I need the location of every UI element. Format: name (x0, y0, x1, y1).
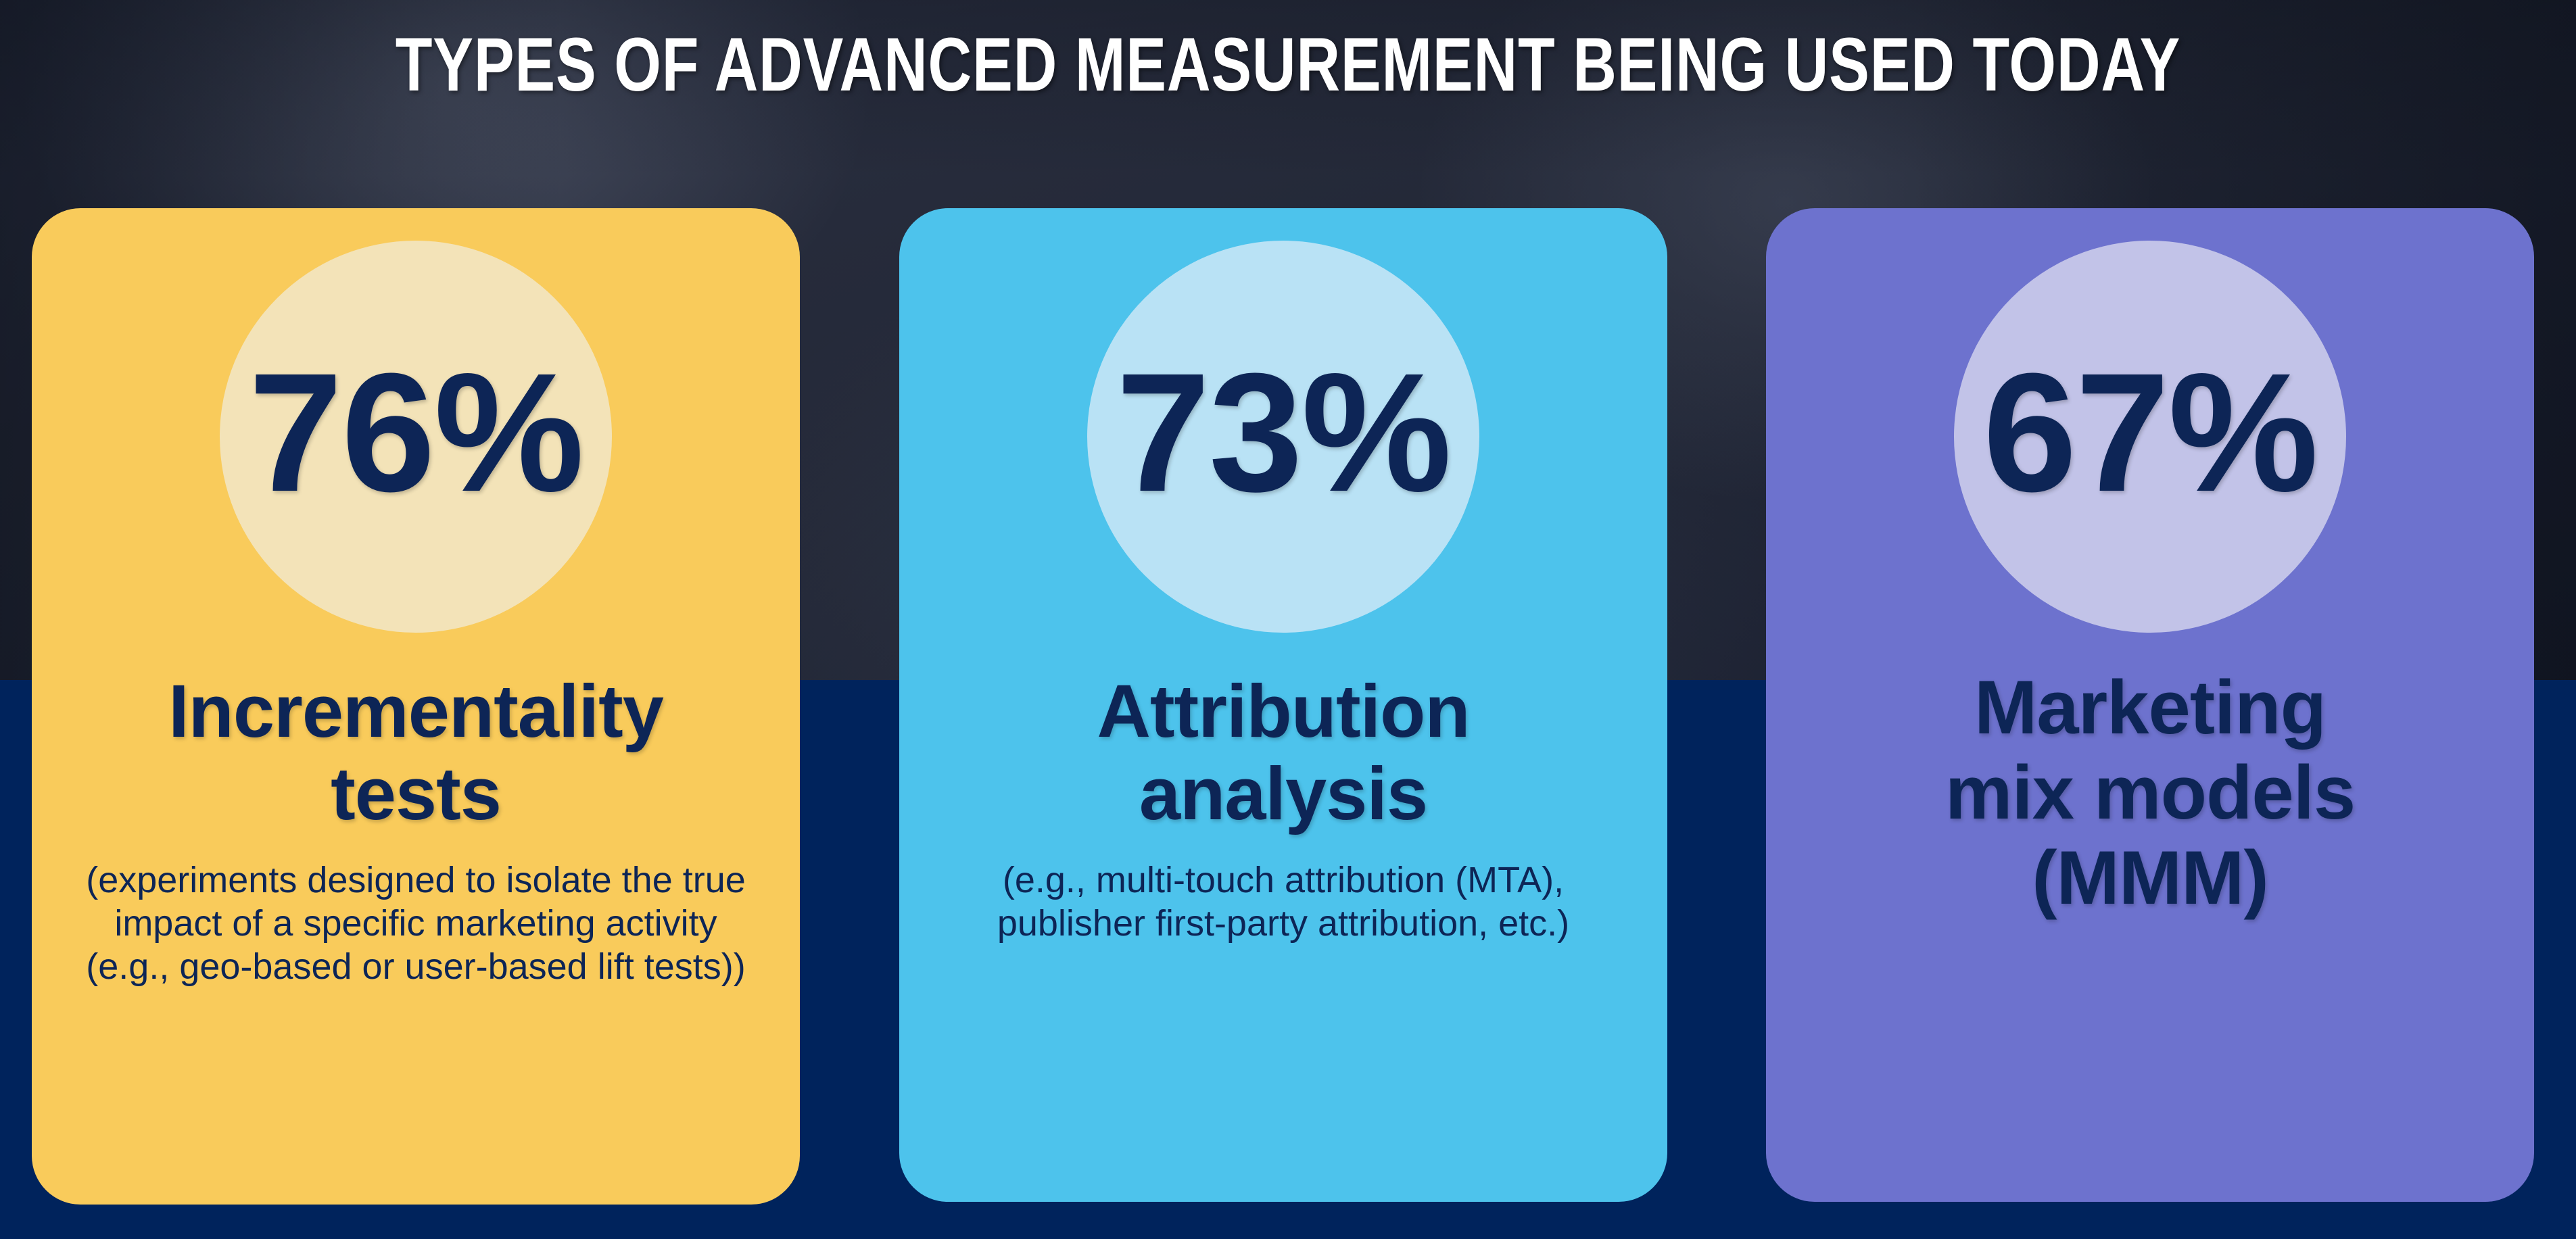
stat-circle: 73% (1087, 241, 1479, 633)
page-title: TYPES OF ADVANCED MEASUREMENT BEING USED… (258, 24, 2318, 105)
card-title-line-3: (MMM) (1809, 835, 2491, 921)
stat-percentage: 67% (1983, 348, 2317, 517)
card-title-line-1: Marketing (1809, 665, 2491, 750)
stat-circle: 67% (1954, 241, 2346, 633)
card-title: Incrementality tests (74, 671, 757, 835)
stat-circle: 76% (220, 241, 612, 633)
card-title-line-1: Attribution (942, 671, 1625, 753)
card-title-line-1: Incrementality (74, 671, 757, 753)
card-title: Attribution analysis (942, 671, 1625, 835)
infographic-root: TYPES OF ADVANCED MEASUREMENT BEING USED… (0, 0, 2576, 1239)
card-description-line-1: (experiments designed to isolate the tru… (71, 858, 761, 902)
card-title-line-2: analysis (942, 753, 1625, 835)
stat-card-attribution-analysis: 73% Attribution analysis (e.g., multi-to… (899, 208, 1667, 1202)
card-description-line-3: (e.g., geo-based or user-based lift test… (71, 945, 761, 988)
card-title: Marketing mix models (MMM) (1809, 665, 2491, 921)
card-description: (experiments designed to isolate the tru… (71, 858, 761, 988)
stat-percentage: 73% (1116, 348, 1450, 517)
card-description-line-2: impact of a specific marketing activity (71, 902, 761, 945)
card-description-line-1: (e.g., multi-touch attribution (MTA), (938, 858, 1628, 902)
card-title-line-2: tests (74, 753, 757, 835)
card-title-line-2: mix models (1809, 750, 2491, 835)
card-description-line-2: publisher first-party attribution, etc.) (938, 902, 1628, 945)
stat-percentage: 76% (249, 348, 583, 517)
stat-card-marketing-mix-models: 67% Marketing mix models (MMM) (1766, 208, 2534, 1202)
stat-card-incrementality-tests: 76% Incrementality tests (experiments de… (32, 208, 800, 1205)
card-description: (e.g., multi-touch attribution (MTA), pu… (938, 858, 1628, 945)
